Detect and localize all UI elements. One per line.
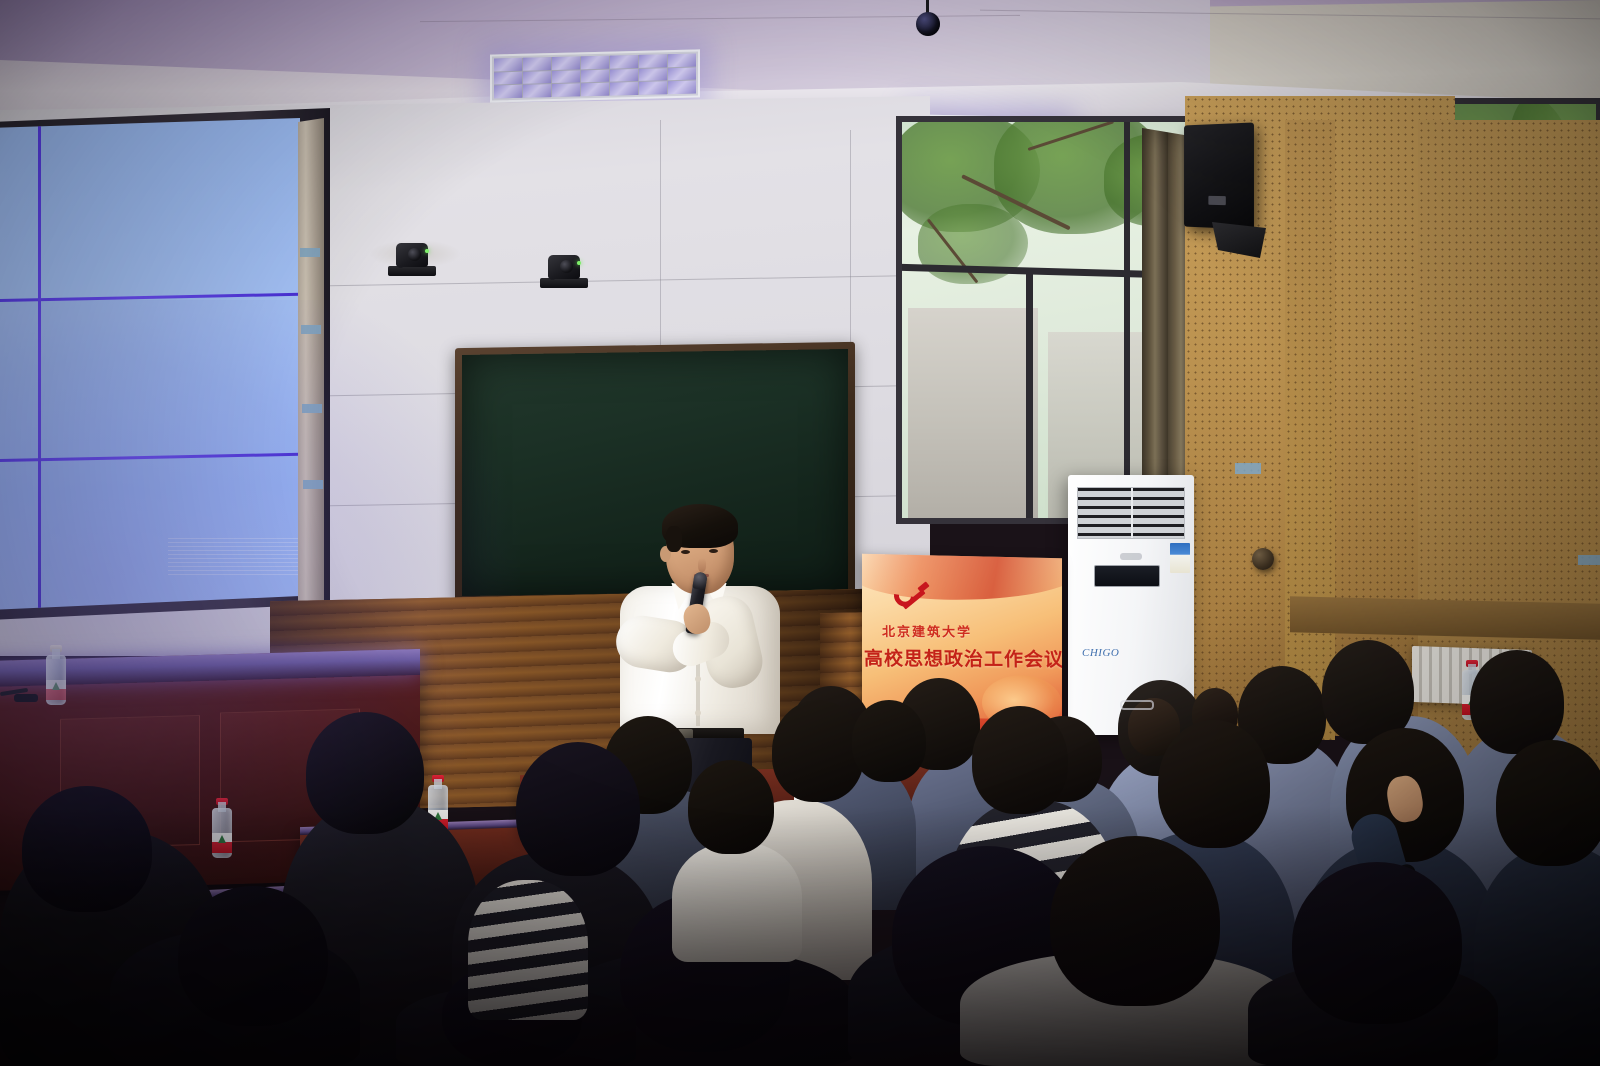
audience-member-torso xyxy=(468,880,588,1020)
presenter-eye xyxy=(709,549,718,553)
bottle-label xyxy=(46,680,66,700)
audience-member-head xyxy=(1158,720,1270,848)
bottle-label xyxy=(212,833,232,853)
grille-cells xyxy=(494,54,696,99)
video-wall-scanline-artifact xyxy=(168,538,298,578)
ptz-camera-icon xyxy=(388,238,436,276)
ac-brand-logo: CHIGO xyxy=(1082,647,1119,659)
eyeglasses-icon xyxy=(1120,700,1154,710)
video-wall-seam xyxy=(38,118,41,610)
video-wall-seam xyxy=(0,293,300,303)
presenter-eye xyxy=(681,550,690,554)
ptz-lens xyxy=(408,248,421,261)
tape-marker xyxy=(1235,463,1261,474)
shirt-button xyxy=(695,710,701,716)
ac-energy-label xyxy=(1170,543,1190,573)
presenter-hair xyxy=(662,504,738,548)
audience-member-head xyxy=(1050,836,1220,1006)
tape-marker xyxy=(1578,555,1600,565)
perforated-acoustic-panel xyxy=(1285,120,1335,740)
speaker-badge xyxy=(1208,196,1225,205)
audience-member-head xyxy=(1496,740,1600,866)
window-mullion xyxy=(1124,118,1130,522)
screen-side-column xyxy=(298,112,324,618)
ptz-camera-icon xyxy=(540,250,588,288)
water-bottle[interactable] xyxy=(212,798,232,858)
dome-camera-lens xyxy=(916,12,940,36)
door-knob[interactable] xyxy=(1252,548,1274,570)
audience-member-head xyxy=(516,742,640,876)
ptz-lens xyxy=(560,260,573,273)
audience-member-head xyxy=(306,712,424,834)
audience-member-torso xyxy=(672,842,802,962)
video-wall-seam xyxy=(0,453,300,463)
led-video-wall[interactable] xyxy=(0,118,300,610)
wall-mounted-loudspeaker xyxy=(1184,122,1254,229)
audience-member-head xyxy=(852,700,926,782)
banner-theme-text: 高校思想政治工作会议精神 xyxy=(864,644,1062,672)
audience-member-head xyxy=(688,760,774,854)
audience-member-head xyxy=(1470,650,1564,754)
banner-swoosh xyxy=(862,554,1062,603)
mic-base xyxy=(14,694,38,702)
audience-member-head xyxy=(1292,862,1462,1024)
ptz-base xyxy=(388,266,436,276)
hammer-sickle-emblem-icon xyxy=(894,580,930,611)
ptz-base xyxy=(540,278,588,288)
gooseneck-desk-microphone[interactable] xyxy=(0,688,52,702)
ptz-led xyxy=(577,261,581,265)
audience-member-head xyxy=(972,706,1068,814)
tape-marker xyxy=(302,404,322,413)
tape-marker xyxy=(300,248,320,257)
ac-louver-grille xyxy=(1077,487,1185,539)
presenter-nose xyxy=(698,558,706,572)
lecture-hall-photo: CHIGO 北京建筑大学 高校思想政治工作会议精神 xyxy=(0,0,1600,1066)
audience-member-head xyxy=(22,786,152,912)
tape-marker xyxy=(301,325,321,334)
banner-university-name: 北京建筑大学 xyxy=(882,621,972,640)
ptz-led xyxy=(425,249,429,253)
tape-marker xyxy=(303,480,323,489)
ac-display-panel[interactable] xyxy=(1094,565,1160,587)
audience-member-head xyxy=(772,700,864,802)
recessed-grille-light xyxy=(490,49,700,102)
exterior-building xyxy=(908,308,1038,522)
ac-brand-mark xyxy=(1120,553,1142,560)
water-bottle[interactable] xyxy=(46,645,66,705)
window-sill xyxy=(1290,596,1600,640)
audience-member-head xyxy=(178,886,328,1026)
ceiling-dome-camera xyxy=(912,0,942,36)
window-mullion xyxy=(1026,268,1033,522)
shirt-button xyxy=(695,676,701,682)
